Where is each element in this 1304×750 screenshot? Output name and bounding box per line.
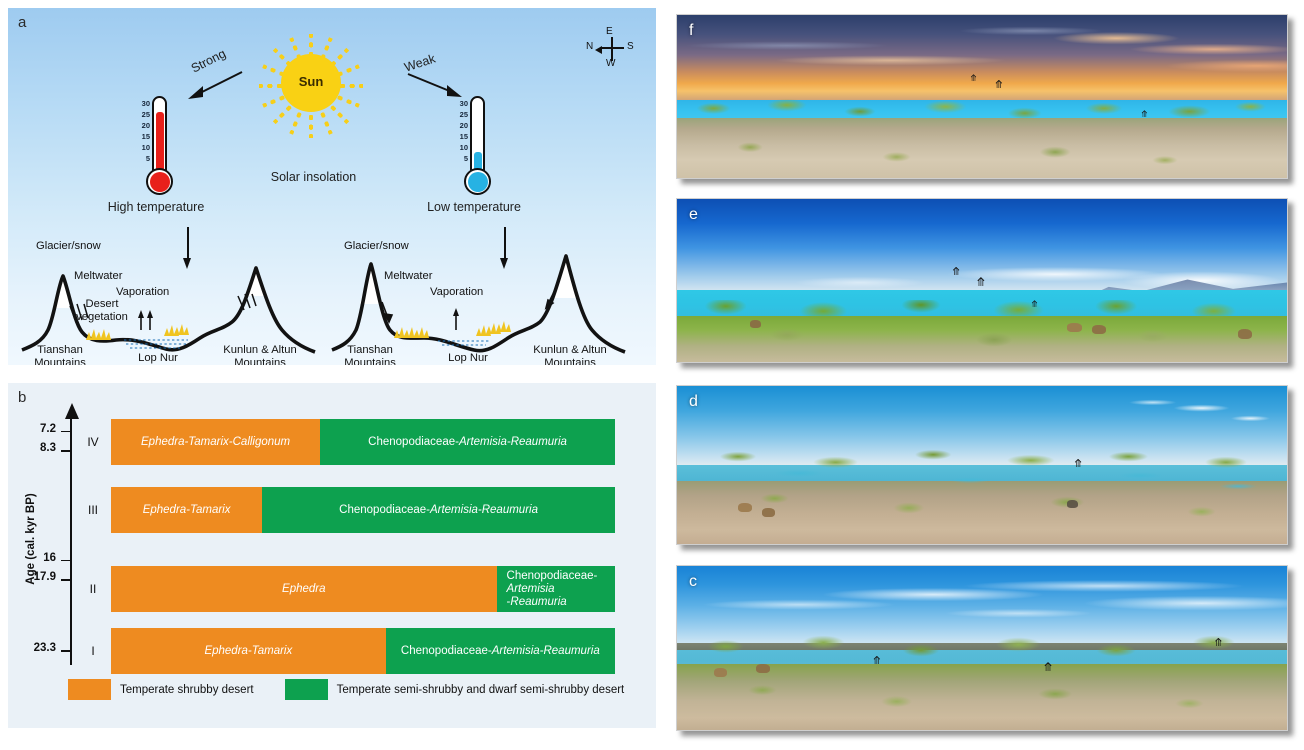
zone-segment-shrubby[interactable]: Ephedra <box>111 566 497 612</box>
glacier-snow-label: Glacier/snow <box>344 240 409 253</box>
landscape-cold-scenario: Glacier/snow Meltwater Vaporation Tiansh… <box>326 246 631 365</box>
high-temperature-caption: High temperature <box>90 200 222 214</box>
legend-swatch-semi-shrubby-desert <box>285 679 328 700</box>
legend-label-semi-shrubby-desert: Temperate semi-shrubby and dwarf semi-sh… <box>337 684 625 696</box>
zone-segment-label: Chenopodiaceae-Artemisia-Reaumuria <box>339 504 538 517</box>
camel-icon <box>756 664 770 673</box>
lop-nur-label: Lop Nur <box>430 352 506 365</box>
camel-icon <box>1092 325 1106 334</box>
zone-roman-numeral: III <box>80 503 106 517</box>
compass-rose: E N S W <box>586 26 642 72</box>
panel-a-letter: a <box>18 14 26 31</box>
thermo-tick-5: 5 <box>146 154 150 163</box>
terrain-profile <box>22 268 315 352</box>
photo-e-letter: e <box>689 206 698 224</box>
photo-panel-e-blue-lake: ⤊ ⤊ ⤊ e <box>676 198 1288 363</box>
thermometer-bulb-fill <box>468 172 488 192</box>
age-axis-tick-label: 16 <box>8 552 56 564</box>
zone-segment-semi-shrubby[interactable]: Chenopodiaceae-Artemisia-Reaumuria <box>262 487 615 533</box>
age-axis-title: Age (cal. kyr BP) <box>25 474 37 604</box>
zone-segment-semi-shrubby[interactable]: Chenopodiaceae-Artemisia-Reaumuria <box>386 628 615 674</box>
low-temperature-caption: Low temperature <box>408 200 540 214</box>
camel-icon <box>1067 323 1082 332</box>
compass-horizontal-bar <box>600 47 624 49</box>
photo-d-letter: d <box>689 393 698 411</box>
thermo-tick-10: 10 <box>142 143 150 152</box>
zone-segment-label: Chenopodiaceae-Artemisia-Reaumuria <box>401 645 600 658</box>
desert-vegetation-tufts <box>86 324 189 340</box>
age-axis-tick-label: 8.3 <box>8 442 56 454</box>
compass-label-top: E <box>606 26 613 37</box>
vaporation-arrows <box>453 308 459 330</box>
zone-segment-label: Ephedra-Tamarix <box>143 504 231 517</box>
kunlun-altun-mountains-label: Kunlun & AltunMountains <box>204 344 316 365</box>
tianshan-mountains-label: TianshanMountains <box>22 344 98 365</box>
age-axis-tick-label: 23.3 <box>8 642 56 654</box>
figure-root: a E N S W Sun Solar insolation Strong We… <box>0 0 1304 750</box>
age-axis-tick <box>61 560 72 562</box>
solar-insolation-label: Solar insolation <box>236 170 391 184</box>
meltwater-label: Meltwater <box>74 270 123 283</box>
legend-swatch-shrubby-desert <box>68 679 111 700</box>
bird-icon: ⤊ <box>1074 459 1083 470</box>
age-axis-line <box>70 417 72 665</box>
strong-arrow-icon <box>184 68 246 104</box>
antelope-icon <box>750 320 761 328</box>
camel-icon <box>714 668 727 677</box>
thermo-tick-30: 30 <box>142 99 150 108</box>
compass-label-left: N <box>586 41 593 52</box>
zone-roman-numeral: II <box>80 582 106 596</box>
thermometer-mercury-column <box>156 112 164 172</box>
zone-segment-label: Ephedra <box>282 583 325 596</box>
compass-label-bottom: W <box>606 58 615 69</box>
camel-icon <box>1238 329 1252 339</box>
sun-icon: Sun <box>246 22 376 150</box>
lop-nur-label: Lop Nur <box>120 352 196 365</box>
zone-bar-II[interactable]: EphedraChenopodiaceae-Artemisia-Reaumuri… <box>111 566 615 612</box>
vaporation-label: Vaporation <box>430 286 483 299</box>
vegetation-layer <box>677 635 1287 730</box>
thermo-tick-25: 25 <box>460 110 468 119</box>
bird-icon: ⤊ <box>994 80 1003 91</box>
bird-icon: ⤊ <box>1043 661 1053 673</box>
thermo-tick-30: 30 <box>460 99 468 108</box>
zone-bar-III[interactable]: Ephedra-TamarixChenopodiaceae-Artemisia-… <box>111 487 615 533</box>
bird-icon: ⤊ <box>1141 110 1149 119</box>
zone-roman-numeral: IV <box>80 435 106 449</box>
thermometer-low-temperature: 30 25 20 15 10 5 Low temperature <box>442 96 506 216</box>
panel-b-letter: b <box>18 389 26 406</box>
antelope-icon <box>1067 500 1078 508</box>
cloud-layer <box>677 394 1287 441</box>
thermo-tick-5: 5 <box>464 154 468 163</box>
zone-segment-shrubby[interactable]: Ephedra-Tamarix-Calligonum <box>111 419 320 465</box>
bird-icon: ⤊ <box>1031 300 1039 309</box>
thermo-tick-15: 15 <box>460 132 468 141</box>
zone-segment-semi-shrubby[interactable]: Chenopodiaceae-Artemisia-Reaumuria <box>497 566 615 612</box>
thermo-tick-20: 20 <box>142 121 150 130</box>
panel-b-vegetation-zones: b Age (cal. kyr BP) 7.28.31617.923.3 IVE… <box>8 383 656 728</box>
legend-label-shrubby-desert: Temperate shrubby desert <box>120 684 254 696</box>
compass-west-arrow-icon <box>595 46 602 54</box>
photo-panel-d-marsh: ⤊ d <box>676 385 1288 545</box>
age-axis-tick <box>61 450 72 452</box>
vegetation-layer <box>677 300 1287 362</box>
photo-c-letter: c <box>689 573 697 591</box>
zone-segment-shrubby[interactable]: Ephedra-Tamarix <box>111 487 262 533</box>
thermo-tick-10: 10 <box>460 143 468 152</box>
tianshan-mountains-label: TianshanMountains <box>332 344 408 365</box>
age-axis-tick-label: 7.2 <box>8 423 56 435</box>
zone-segment-semi-shrubby[interactable]: Chenopodiaceae-Artemisia-Reaumuria <box>320 419 615 465</box>
zone-segment-label: Chenopodiaceae-Artemisia-Reaumuria <box>507 570 611 609</box>
age-axis-tick <box>61 650 72 652</box>
age-axis-tick-label: 17.9 <box>8 571 56 583</box>
vaporation-arrows <box>138 310 153 330</box>
camel-icon <box>738 503 752 512</box>
bird-icon: ⤊ <box>872 656 881 667</box>
glacier-snow-label: Glacier/snow <box>36 240 101 253</box>
zone-segment-label: Ephedra-Tamarix-Calligonum <box>141 436 290 449</box>
zone-segment-shrubby[interactable]: Ephedra-Tamarix <box>111 628 386 674</box>
photo-panel-f-sunset-lake: ⤊ ⤊ ⤊ f <box>676 14 1288 179</box>
zone-roman-numeral: I <box>80 644 106 658</box>
photo-panel-c-cirrus-lake: ⤊ ⤊ ⤊ c <box>676 565 1288 731</box>
thermometer-high-temperature: 30 25 20 15 10 5 High temperature <box>124 96 188 216</box>
zone-segment-label: Chenopodiaceae-Artemisia-Reaumuria <box>368 436 567 449</box>
photo-f-letter: f <box>689 22 693 40</box>
vegetation-layer <box>677 449 1287 544</box>
compass-label-right: S <box>627 41 634 52</box>
zone-bar-IV[interactable]: Ephedra-Tamarix-CalligonumChenopodiaceae… <box>111 419 615 465</box>
desert-vegetation-label: Desertvegetation <box>68 298 136 323</box>
kunlun-altun-mountains-label: Kunlun & AltunMountains <box>514 344 626 365</box>
thermometer-bulb-fill <box>150 172 170 192</box>
zone-bar-I[interactable]: Ephedra-TamarixChenopodiaceae-Artemisia-… <box>111 628 615 674</box>
sun-label: Sun <box>246 74 376 89</box>
bird-icon: ⤊ <box>970 74 978 83</box>
camel-icon <box>762 508 775 517</box>
thermo-tick-25: 25 <box>142 110 150 119</box>
landscape-warm-scenario: Glacier/snow Meltwater Vaporation Desert… <box>16 246 321 365</box>
age-axis-tick <box>61 579 72 581</box>
age-axis-tick <box>61 431 72 433</box>
desert-vegetation-tufts <box>394 321 511 338</box>
vaporation-label: Vaporation <box>116 286 169 299</box>
bird-icon: ⤊ <box>976 276 986 288</box>
panel-a-schematic: a E N S W Sun Solar insolation Strong We… <box>8 8 656 365</box>
panel-b-legend: Temperate shrubby desert Temperate semi-… <box>68 679 646 700</box>
cloud-layer <box>677 573 1287 645</box>
vegetation-layer <box>677 97 1287 179</box>
bird-icon: ⤊ <box>952 267 961 278</box>
bird-icon: ⤊ <box>1214 638 1223 649</box>
meltwater-label: Meltwater <box>384 270 433 283</box>
zone-segment-label: Ephedra-Tamarix <box>204 645 292 658</box>
thermo-tick-20: 20 <box>460 121 468 130</box>
thermo-tick-15: 15 <box>142 132 150 141</box>
